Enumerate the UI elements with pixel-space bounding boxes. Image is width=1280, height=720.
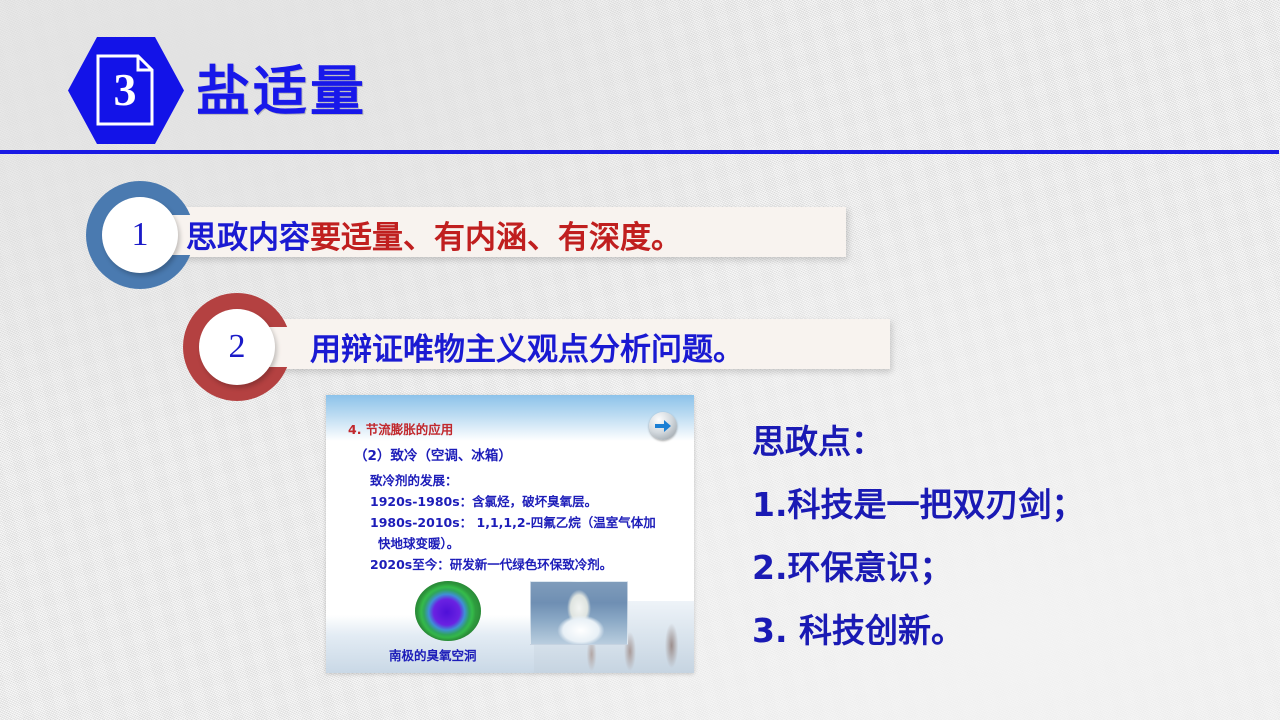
ozone-caption: 南极的臭氧空洞 [389, 645, 477, 664]
thumbnail-line: 1980s-2010s： 1,1,1,2-四氟乙烷（温室气体加 [370, 512, 656, 531]
slide-canvas: 3 盐适量 1 思政内容要适量、有内涵、有深度。 2 用辩证唯物主义观点分析问题… [0, 0, 1280, 720]
thumbnail-line: 快地球变暖）。 [378, 533, 459, 552]
row-1-text-tail: 要适量、有内涵、有深度。 [310, 220, 682, 256]
thumbnail-subheading: （2）致冷（空调、冰箱） [354, 444, 512, 464]
notes-heading: 思政点： [752, 415, 1085, 463]
row-2-ring: 2 [183, 293, 291, 401]
row-2-number: 2 [199, 309, 275, 385]
ozone-hole-image [415, 581, 481, 641]
row-1-number: 1 [102, 197, 178, 273]
notes-item: 3. 科技创新。 [752, 604, 1085, 652]
notes-item: 1.科技是一把双刃剑； [752, 478, 1085, 526]
row-2-text: 用辩证唯物主义观点分析问题。 [310, 324, 744, 369]
row-1-text: 思政内容要适量、有内涵、有深度。 [186, 212, 682, 257]
header-number-badge: 3 [68, 37, 184, 144]
badge-number: 3 [96, 54, 154, 126]
thumbnail-line: 致冷剂的发展： [370, 470, 458, 489]
embedded-slide-thumbnail: 4. 节流膨胀的应用 （2）致冷（空调、冰箱） 致冷剂的发展： 1920s-19… [326, 395, 694, 673]
polar-bear-image [530, 581, 628, 645]
thumbnail-heading: 4. 节流膨胀的应用 [348, 419, 453, 438]
row-1-text-lead: 思政内容 [186, 220, 310, 256]
notes-column: 思政点： 1.科技是一把双刃剑； 2.环保意识； 3. 科技创新。 [752, 415, 1085, 667]
arrow-right-icon[interactable] [649, 412, 677, 440]
notes-item: 2.环保意识； [752, 541, 1085, 589]
thumbnail-line: 2020s至今：研发新一代绿色环保致冷剂。 [370, 554, 612, 573]
thumbnail-line: 1920s-1980s：含氯烃，破坏臭氧层。 [370, 491, 597, 510]
header-divider [0, 150, 1279, 154]
row-1-ring: 1 [86, 181, 194, 289]
page-title: 盐适量 [196, 47, 367, 126]
